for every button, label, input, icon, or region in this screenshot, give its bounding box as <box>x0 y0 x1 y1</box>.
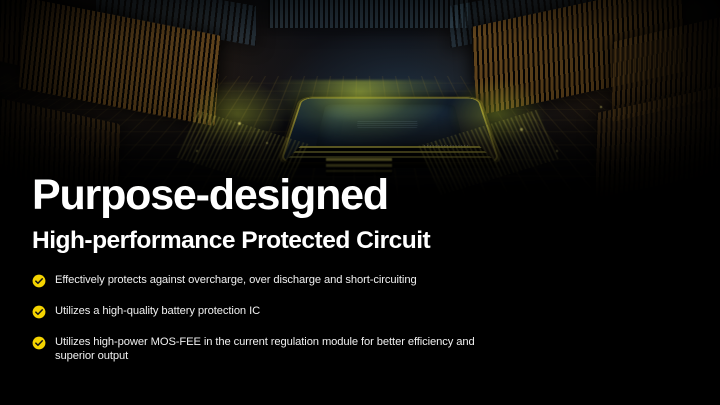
check-circle-icon <box>32 274 46 288</box>
list-item: Utilizes high-power MOS-FEE in the curre… <box>32 335 720 364</box>
feature-list: Effectively protects against overcharge,… <box>32 273 720 364</box>
content-block: Purpose-designed High-performance Protec… <box>0 168 720 405</box>
list-item-label: Effectively protects against overcharge,… <box>55 273 417 288</box>
page-subtitle: High-performance Protected Circuit <box>32 229 720 254</box>
slide-root: Purpose-designed High-performance Protec… <box>0 0 720 405</box>
list-item: Utilizes a high-quality battery protecti… <box>32 304 720 319</box>
check-circle-icon <box>32 305 46 319</box>
check-circle-icon <box>32 336 46 350</box>
list-item: Effectively protects against overcharge,… <box>32 273 720 288</box>
list-item-label: Utilizes high-power MOS-FEE in the curre… <box>55 335 507 364</box>
list-item-label: Utilizes a high-quality battery protecti… <box>55 304 260 319</box>
page-title: Purpose-designed <box>32 174 720 217</box>
